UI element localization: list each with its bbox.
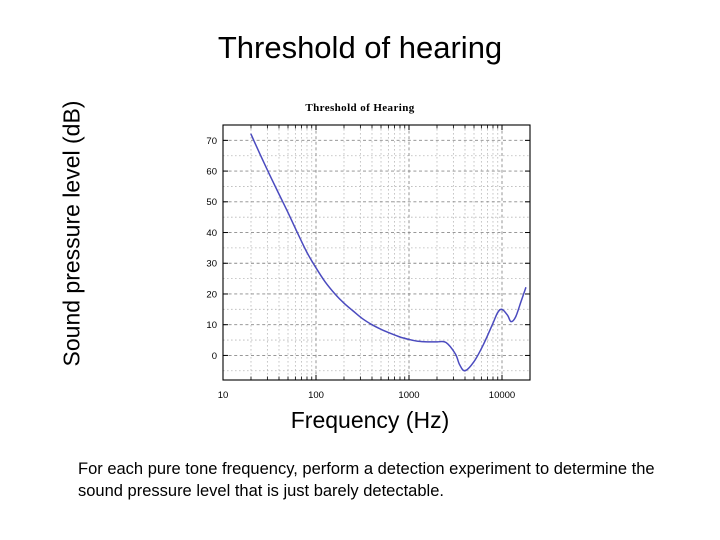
x-axis-label: Frequency (Hz): [200, 407, 540, 434]
y-tick-label: 50: [206, 197, 217, 208]
y-tick-label: 30: [206, 259, 217, 270]
minor-horizontal-gridlines: [223, 125, 530, 371]
threshold-of-hearing-plot: 010203040506070 10100100010000: [190, 115, 540, 405]
y-tick-labels: 010203040506070: [206, 136, 217, 362]
x-tick-label: 10: [218, 390, 229, 401]
x-tick-labels: 10100100010000: [218, 390, 516, 401]
x-tick-label: 10000: [489, 390, 515, 401]
y-tick-label: 0: [212, 351, 217, 362]
x-tick-label: 100: [308, 390, 324, 401]
y-tick-label: 60: [206, 166, 217, 177]
chart-title: Threshold of Hearing: [0, 102, 720, 114]
page-title: Threshold of hearing: [0, 30, 720, 66]
slide-caption: For each pure tone frequency, perform a …: [78, 458, 658, 502]
chart-figure: Threshold of Hearing Sound pressure leve…: [0, 90, 720, 445]
y-axis-label: Sound pressure level (dB): [59, 84, 86, 384]
y-tick-label: 10: [206, 320, 217, 331]
x-tick-label: 1000: [398, 390, 419, 401]
y-tick-label: 70: [206, 136, 217, 147]
y-tick-label: 40: [206, 228, 217, 239]
minor-vertical-gridlines: [251, 125, 530, 380]
y-tick-label: 20: [206, 289, 217, 300]
